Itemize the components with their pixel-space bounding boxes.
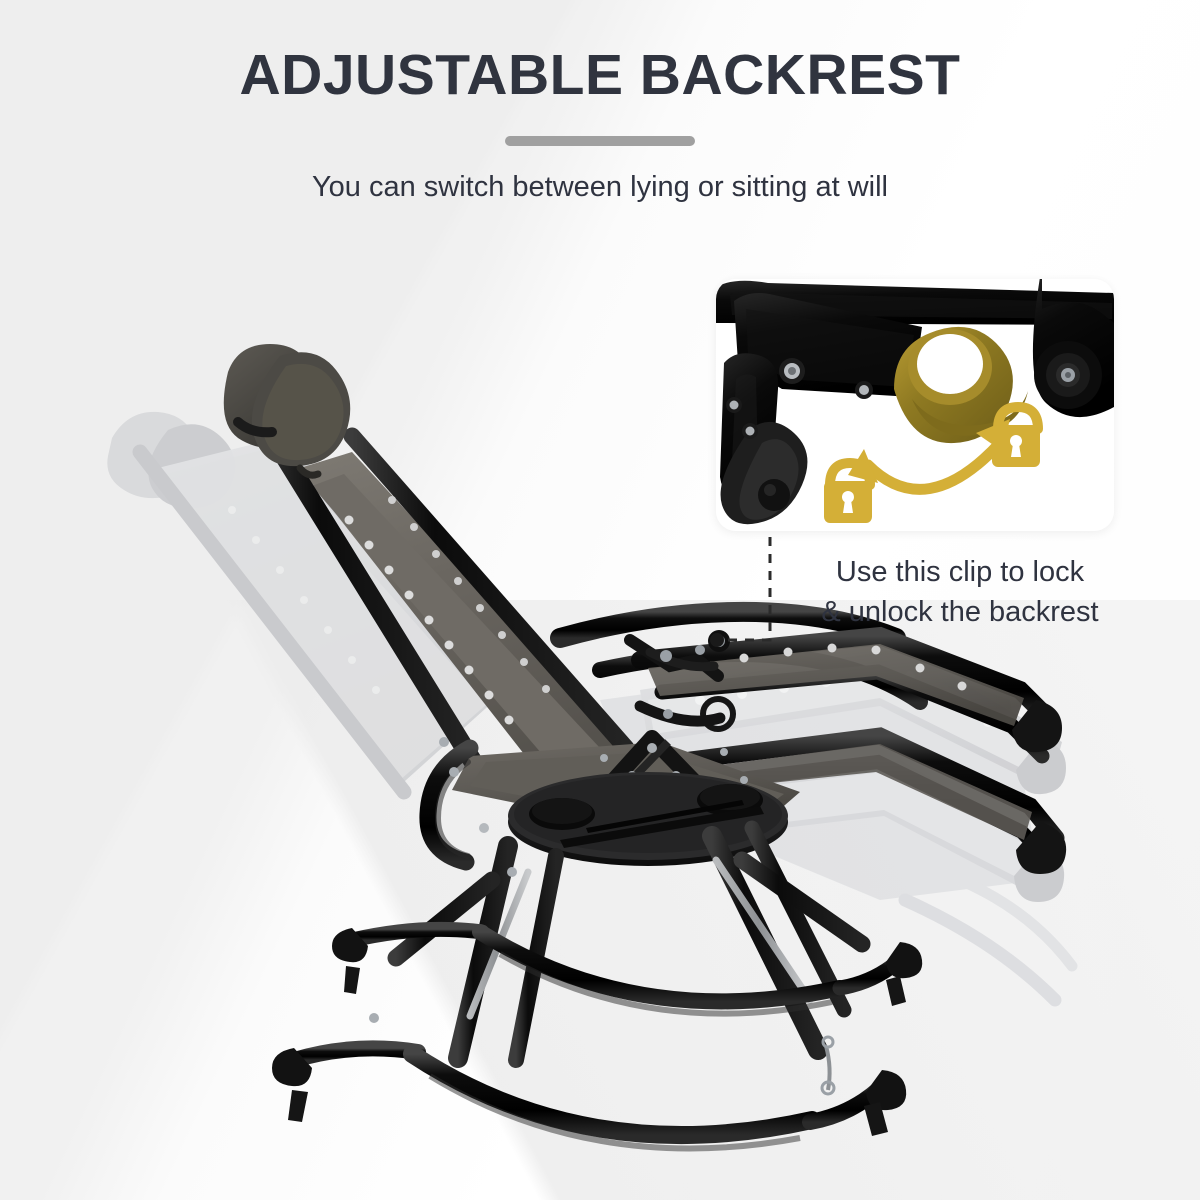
caption-line-2: & unlock the backrest	[760, 592, 1160, 632]
infographic-canvas: ADJUSTABLE BACKREST You can switch betwe…	[0, 0, 1200, 1200]
clip-detail-photo	[716, 279, 1114, 531]
rocker-cap-far-right	[886, 942, 922, 978]
callout-caption: Use this clip to lock & unlock the backr…	[760, 552, 1160, 632]
caption-line-1: Use this clip to lock	[760, 552, 1160, 592]
callout-detail-panel[interactable]	[716, 279, 1114, 531]
